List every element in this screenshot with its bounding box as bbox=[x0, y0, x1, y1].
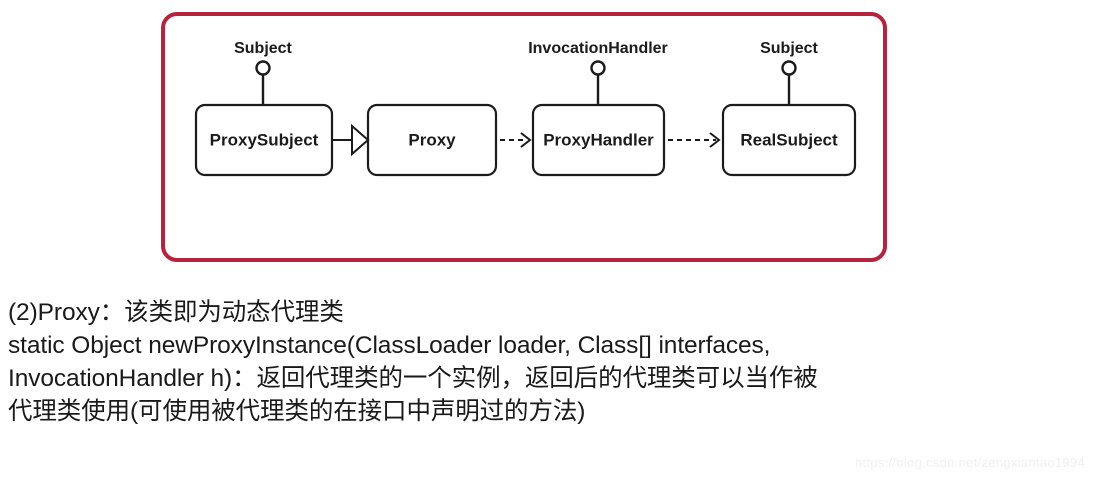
body-text-line-4: 代理类使用(可使用被代理类的在接口中声明过的方法) bbox=[8, 395, 1088, 428]
connector-proxysubject-to-proxy bbox=[332, 126, 368, 154]
connector-proxyhandler-to-realsubject bbox=[668, 133, 719, 147]
connector-proxy-to-proxyhandler bbox=[500, 133, 530, 147]
uml-diagram: Subject InvocationHandler Subject ProxyS… bbox=[0, 0, 1099, 282]
uml-box-label-real-subject: RealSubject bbox=[740, 130, 838, 149]
interface-lollipop-subject-right: Subject bbox=[760, 40, 818, 110]
uml-box-label-proxy-handler: ProxyHandler bbox=[543, 130, 654, 149]
body-text-line-2: static Object newProxyInstance(ClassLoad… bbox=[8, 329, 1088, 362]
interface-lollipop-invocation-handler: InvocationHandler bbox=[528, 40, 668, 110]
uml-canvas: Subject InvocationHandler Subject ProxyS… bbox=[0, 0, 1099, 282]
uml-box-proxy-subject[interactable]: ProxySubject bbox=[196, 105, 332, 175]
uml-box-proxy-handler[interactable]: ProxyHandler bbox=[533, 105, 664, 175]
uml-box-proxy[interactable]: Proxy bbox=[368, 105, 496, 175]
body-text-line-1: (2)Proxy：该类即为动态代理类 bbox=[8, 296, 1088, 329]
interface-label-subject-right: Subject bbox=[760, 40, 818, 57]
body-text-line-3: InvocationHandler h)：返回代理类的一个实例，返回后的代理类可… bbox=[8, 362, 1088, 395]
uml-box-real-subject[interactable]: RealSubject bbox=[723, 105, 855, 175]
body-text-block: (2)Proxy：该类即为动态代理类 static Object newProx… bbox=[8, 296, 1088, 428]
uml-box-label-proxy-subject: ProxySubject bbox=[210, 130, 319, 149]
csdn-watermark: https://blog.csdn.net/zengxiantao1994 bbox=[855, 455, 1085, 470]
interface-label-invocation-handler: InvocationHandler bbox=[528, 40, 668, 57]
interface-label-subject-left: Subject bbox=[234, 40, 292, 57]
uml-box-label-proxy: Proxy bbox=[408, 130, 456, 149]
interface-lollipop-subject-left: Subject bbox=[234, 40, 292, 110]
